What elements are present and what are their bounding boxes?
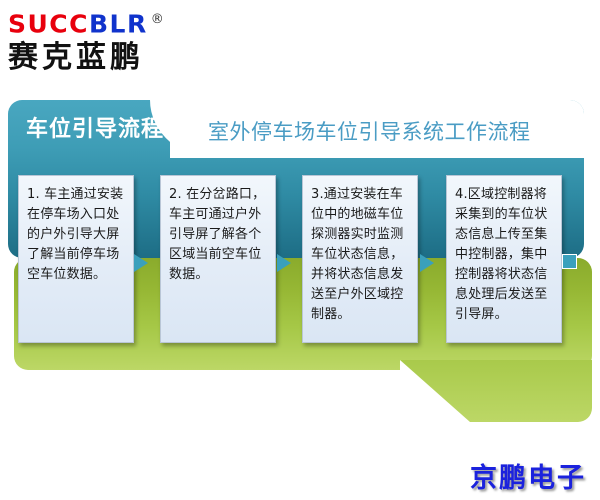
- flow-arrow-right-icon-2: [277, 254, 291, 272]
- banner-tab-label: 车位引导流程: [26, 111, 164, 143]
- registered-trademark-icon: ®: [151, 6, 166, 34]
- flow-arrow-right-icon-3: [420, 254, 434, 272]
- flow-step-text-2: 2. 在分岔路口，车主可通过户外引导屏了解各个区域当前空车位数据。: [169, 185, 271, 285]
- flow-step-box-1: 1. 车主通过安装在停车场入口处的户外引导大屏了解当前停车场空车位数据。: [18, 175, 134, 343]
- flow-end-square-icon: [562, 254, 577, 269]
- flow-step-text-3: 3.通过安装在车位中的地磁车位探测器实时监测车位状态信息，并将状态信息发送至户外…: [311, 185, 413, 325]
- footer-brand: 京鹏电子: [470, 456, 586, 495]
- page-title: 室外停车场车位引导系统工作流程: [208, 116, 531, 146]
- logo-wordmark-red: SUCC: [8, 9, 89, 38]
- flow-step-text-1: 1. 车主通过安装在停车场入口处的户外引导大屏了解当前停车场空车位数据。: [27, 185, 129, 285]
- logo-wordmark: SUCCBLR®: [8, 6, 238, 38]
- logo-chinese-name: 赛克蓝鹏: [8, 40, 238, 76]
- company-logo: SUCCBLR® 赛克蓝鹏: [8, 6, 238, 76]
- flow-step-text-4: 4.区域控制器将采集到的车位状态信息上传至集中控制器，集中控制器将状态信息处理后…: [455, 185, 557, 325]
- logo-wordmark-blue: BLR: [89, 9, 148, 38]
- flow-step-box-2: 2. 在分岔路口，车主可通过户外引导屏了解各个区域当前空车位数据。: [160, 175, 276, 343]
- flow-arrow-right-icon-1: [134, 254, 148, 272]
- flow-step-box-3: 3.通过安装在车位中的地磁车位探测器实时监测车位状态信息，并将状态信息发送至户外…: [302, 175, 418, 343]
- flow-step-box-4: 4.区域控制器将采集到的车位状态信息上传至集中控制器，集中控制器将状态信息处理后…: [446, 175, 562, 343]
